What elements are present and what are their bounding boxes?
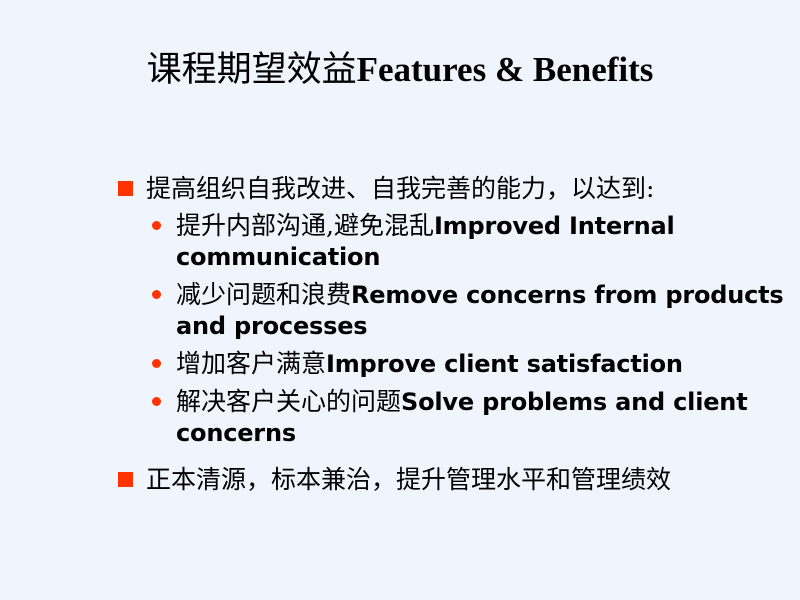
bullet-text-english: Improve client satisfaction xyxy=(326,350,683,378)
bullet-text-level1: 提高组织自我改进、自我完善的能力，以达到: xyxy=(146,174,654,203)
slide-body: 提高组织自我改进、自我完善的能力，以达到: 提升内部沟通,避免混乱Improve… xyxy=(116,172,788,497)
bullet-item-level1: 提高组织自我改进、自我完善的能力，以达到: xyxy=(116,172,788,206)
square-bullet-icon xyxy=(118,181,133,196)
bullet-item-level2: 提升内部沟通,避免混乱Improved Internal communicati… xyxy=(116,210,788,273)
slide-title-chinese: 课程期望效益 xyxy=(147,50,357,90)
slide-title: 课程期望效益Features & Benefits xyxy=(0,48,800,92)
bullet-item-level1: 正本清源，标本兼治，提升管理水平和管理绩效 xyxy=(116,463,788,497)
bullet-text-chinese: 解决客户关心的问题 xyxy=(176,387,401,416)
bullet-text-level1: 正本清源，标本兼治，提升管理水平和管理绩效 xyxy=(146,465,671,494)
square-bullet-icon xyxy=(118,472,133,487)
round-bullet-icon xyxy=(152,359,161,368)
round-bullet-icon xyxy=(152,397,161,406)
bullet-item-level2: 减少问题和浪费Remove concerns from products and… xyxy=(116,279,788,342)
round-bullet-icon xyxy=(152,290,161,299)
slide-title-english: Features & Benefits xyxy=(357,50,654,89)
bullet-text-chinese: 提升内部沟通,避免混乱 xyxy=(176,211,434,240)
bullet-text-chinese: 增加客户满意 xyxy=(176,349,326,378)
bullet-item-level2: 增加客户满意Improve client satisfaction xyxy=(116,348,788,380)
sub-bullet-list: 提升内部沟通,避免混乱Improved Internal communicati… xyxy=(116,210,788,449)
presentation-slide: 课程期望效益Features & Benefits 提高组织自我改进、自我完善的… xyxy=(0,0,800,600)
bullet-text-chinese: 减少问题和浪费 xyxy=(176,280,351,309)
bullet-item-level2: 解决客户关心的问题Solve problems and client conce… xyxy=(116,386,788,449)
round-bullet-icon xyxy=(152,221,161,230)
